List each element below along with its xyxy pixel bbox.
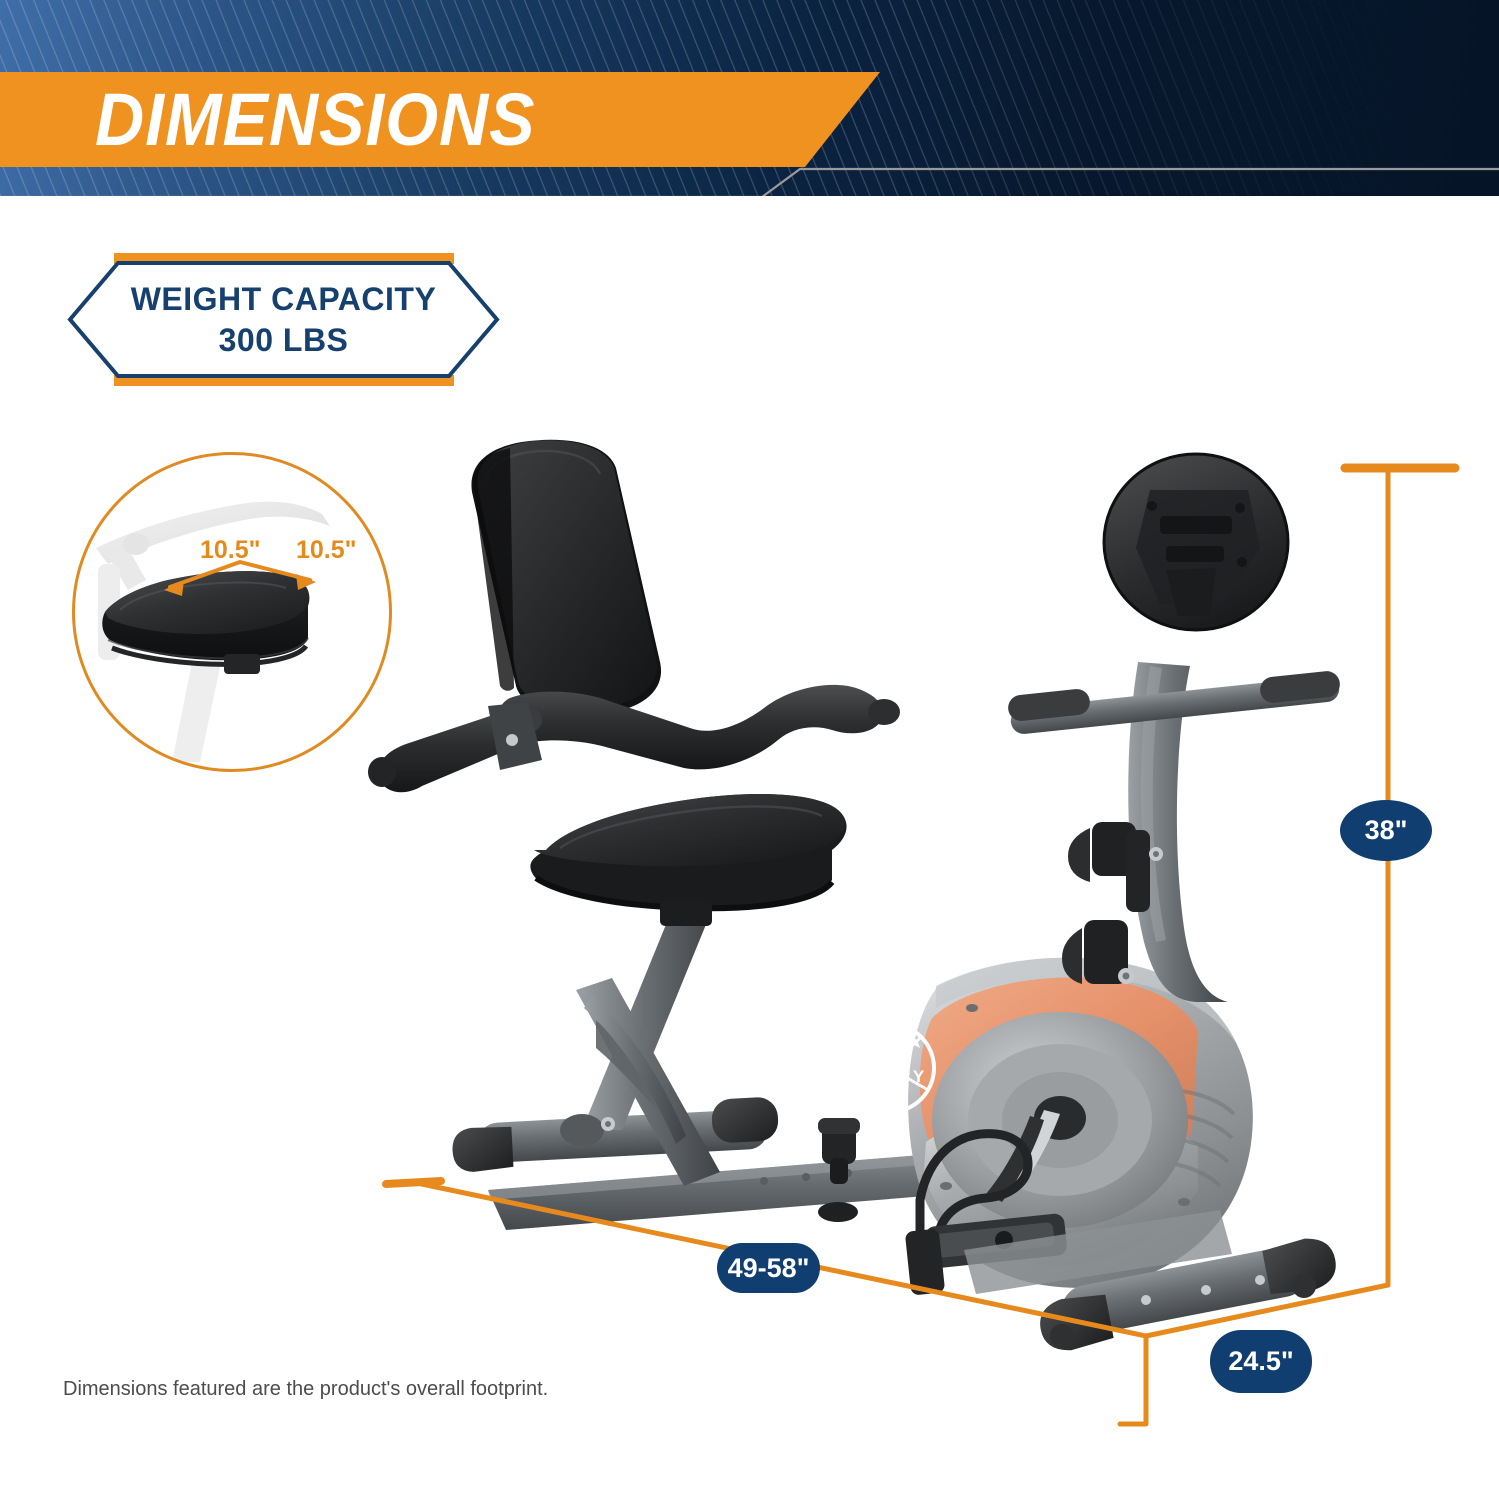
seat-width-label-left: 10.5" <box>200 536 261 565</box>
width-dimension-label: 24.5" <box>1210 1330 1312 1393</box>
weight-capacity-line1: WEIGHT CAPACITY <box>66 279 501 320</box>
backrest-pad <box>471 440 661 716</box>
product-image-recumbent-bike: MARCY <box>360 430 1420 1440</box>
footnote-text: Dimensions featured are the product's ov… <box>63 1378 548 1401</box>
console-display-back <box>1104 454 1288 630</box>
tension-knob-lower <box>1062 920 1128 984</box>
weight-capacity-text: WEIGHT CAPACITY 300 LBS <box>66 279 501 361</box>
height-dimension-label: 38" <box>1340 800 1432 861</box>
weight-capacity-badge: WEIGHT CAPACITY 300 LBS <box>66 253 501 386</box>
seat-width-label-right: 10.5" <box>296 536 357 565</box>
weight-capacity-line2: 300 LBS <box>66 320 501 361</box>
length-dimension-label: 49-58" <box>717 1243 820 1293</box>
marcy-logo-text: MARCY <box>854 1067 926 1086</box>
page-header: DIMENSIONS <box>0 0 1499 196</box>
seat-cushion <box>530 794 846 926</box>
footer-stripe-pattern <box>0 1443 1499 1500</box>
seat-closeup-circle-border <box>72 452 392 772</box>
page-footer-band <box>0 1443 1499 1500</box>
console-mast <box>1007 454 1341 1002</box>
marcy-logo-badge: MARCY <box>846 1024 934 1112</box>
header-divider-line <box>0 167 1499 196</box>
seat-closeup-inset: 10.5" 10.5" <box>72 452 392 772</box>
tension-knob-upper <box>1068 822 1150 912</box>
page-title: DIMENSIONS <box>95 78 535 162</box>
